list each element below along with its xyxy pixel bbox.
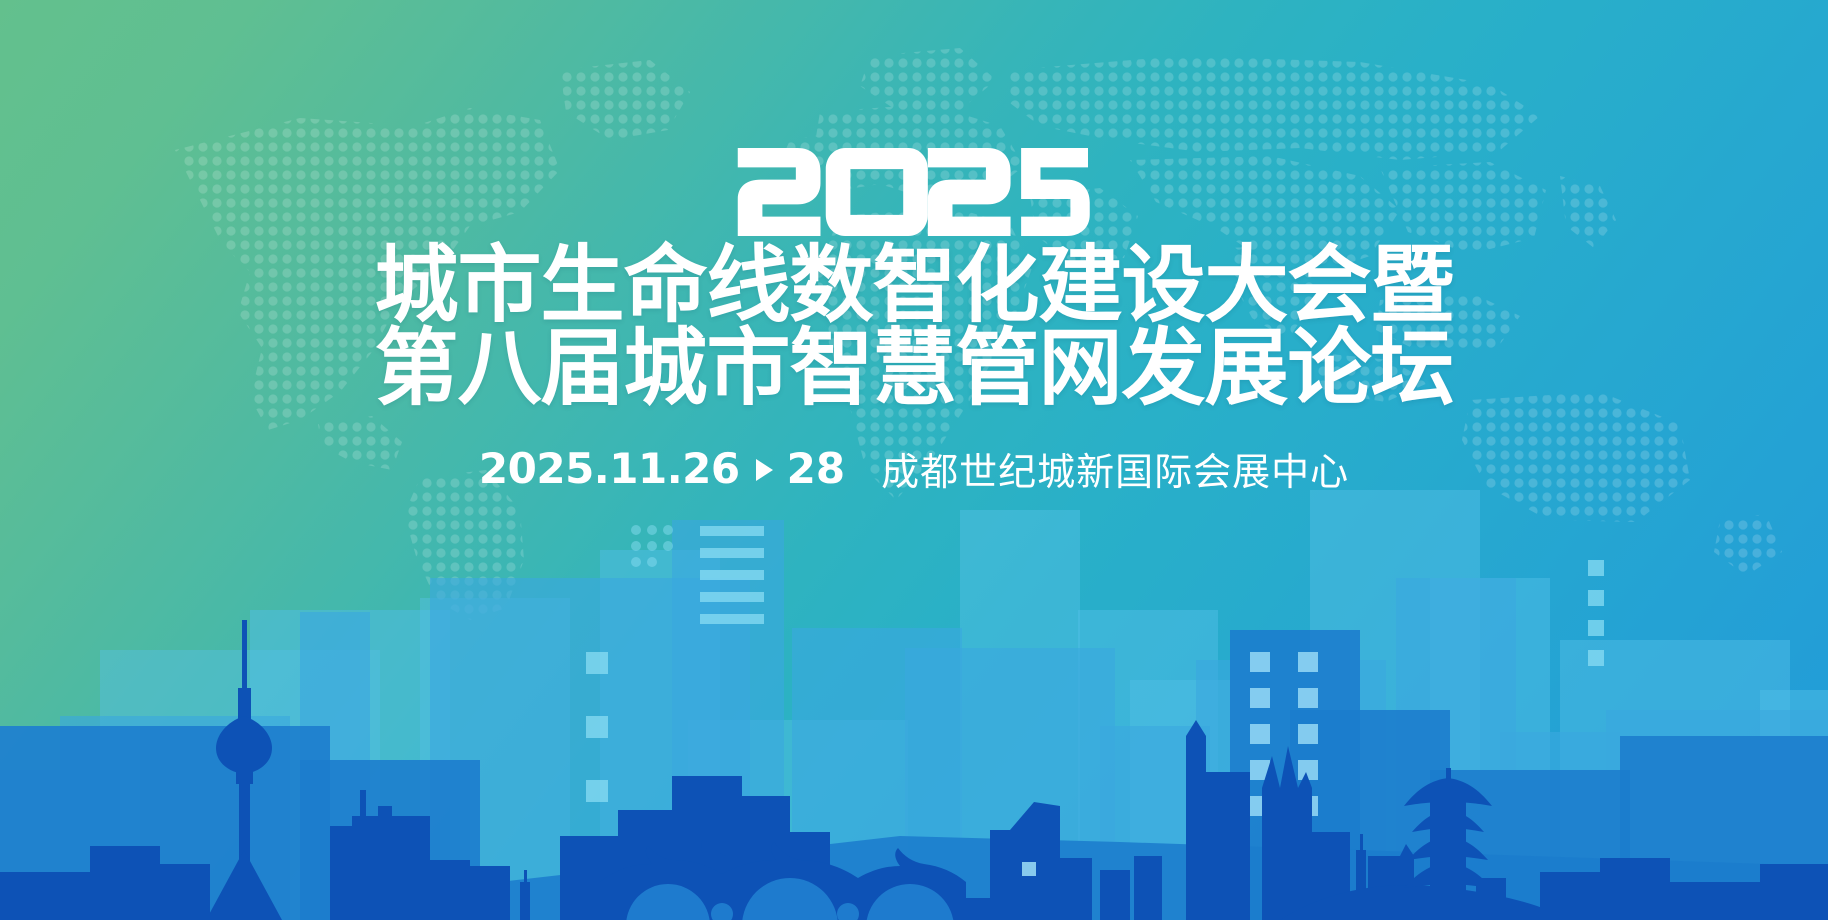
banner-meta-line: 2025.11.26 28 成都世纪城新国际会展中心 bbox=[0, 441, 1828, 496]
date-start: 2025.11.26 bbox=[479, 444, 740, 493]
year-2025 bbox=[0, 148, 1828, 236]
date-end: 28 bbox=[787, 444, 845, 493]
tv-tower-icon bbox=[206, 620, 282, 920]
conference-banner: 城市生命线数智化建设大会暨 第八届城市智慧管网发展论坛 2025.11.26 2… bbox=[0, 0, 1828, 920]
skyline-layer-front bbox=[0, 620, 1828, 920]
venue-name: 成都世纪城新国际会展中心 bbox=[881, 441, 1349, 496]
banner-title-line-2: 第八届城市智慧管网发展论坛 bbox=[0, 325, 1828, 412]
banner-title-line-1: 城市生命线数智化建设大会暨 bbox=[0, 242, 1828, 329]
banner-text-block: 城市生命线数智化建设大会暨 第八届城市智慧管网发展论坛 2025.11.26 2… bbox=[0, 0, 1828, 496]
triangle-right-icon bbox=[756, 459, 773, 481]
